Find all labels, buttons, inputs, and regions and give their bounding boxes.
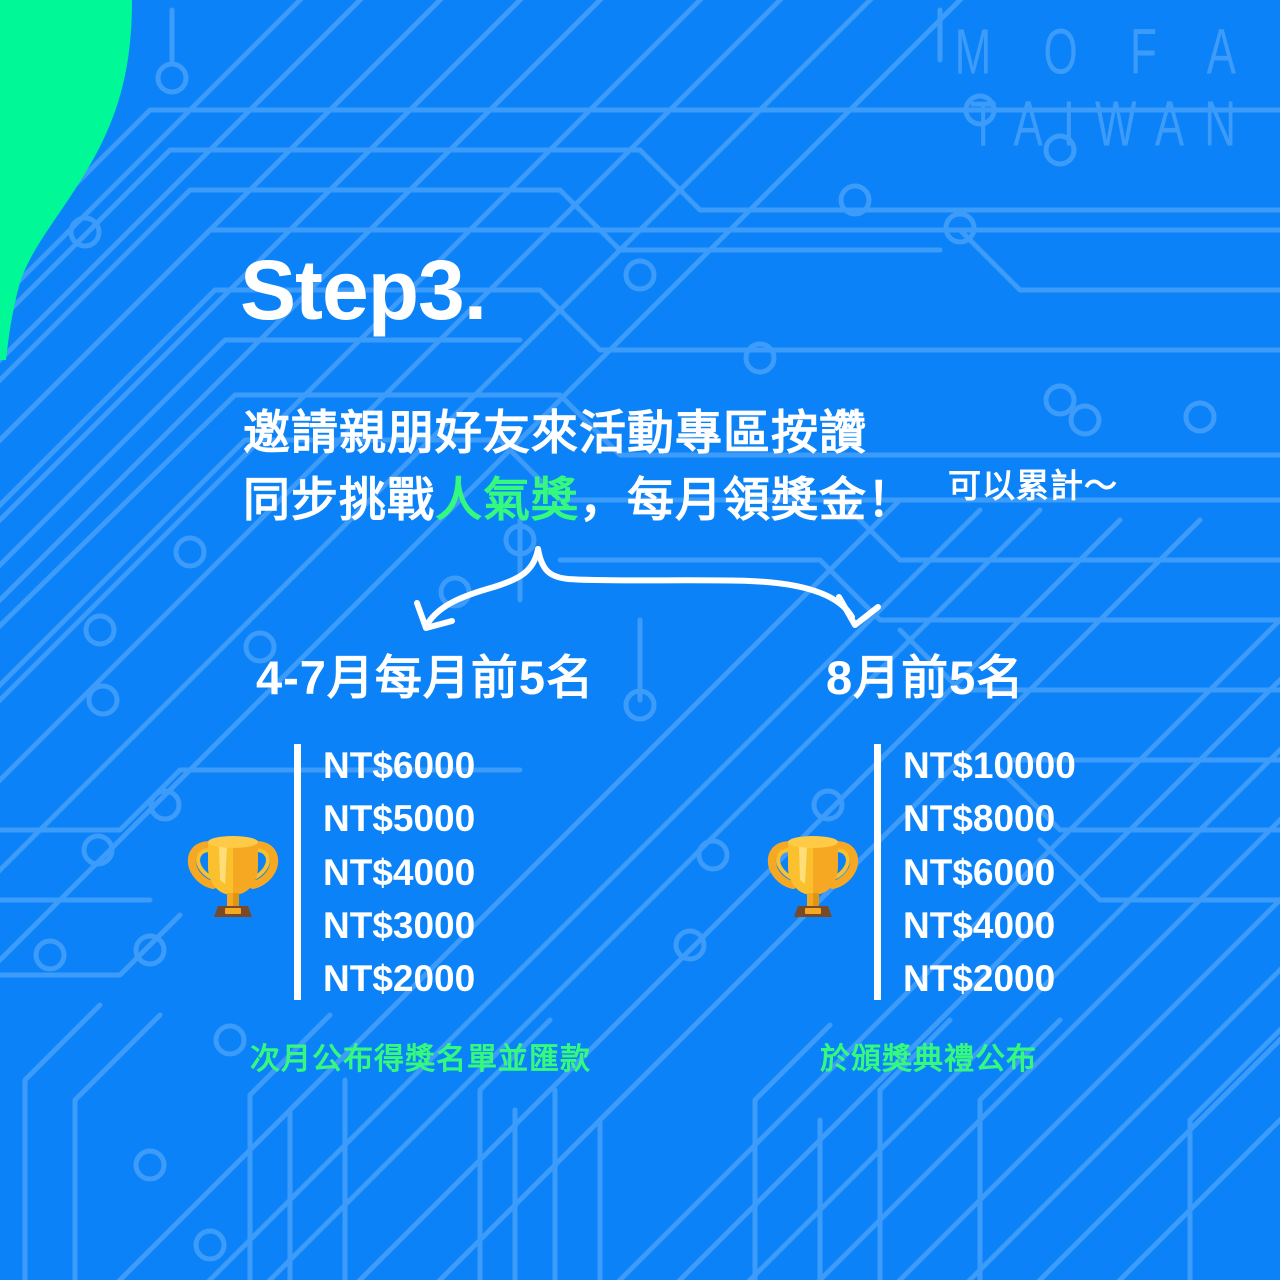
column-rule-right: [874, 744, 881, 1000]
watermark-line-1: M O F A: [955, 19, 1258, 88]
lede-line-2: 同步挑戰人氣獎，每月領獎金！: [243, 467, 915, 534]
prize-amount: NT$6000: [323, 747, 475, 784]
green-corner-blob: [0, 0, 230, 360]
watermark-line-2: TAIWAN: [955, 90, 1258, 159]
lede-copy: 邀請親朋好友來活動專區按讚 同步挑戰人氣獎，每月領獎金！: [243, 400, 915, 533]
column-heading-aug: 8月前5名: [760, 650, 1230, 706]
prize-amount: NT$6000: [903, 854, 1076, 891]
prize-row-apr-jul: NT$6000 NT$5000 NT$4000 NT$3000 NT$2000: [180, 744, 650, 1000]
prize-column-aug: 8月前5名: [760, 650, 1230, 1078]
prize-list-apr-jul: NT$6000 NT$5000 NT$4000 NT$3000 NT$2000: [301, 747, 475, 997]
column-rule-left: [294, 744, 301, 1000]
lede-line-1: 邀請親朋好友來活動專區按讚: [243, 400, 915, 467]
trophy-icon: [760, 819, 866, 925]
step-title: Step3.: [240, 248, 486, 332]
prize-amount: NT$4000: [903, 907, 1076, 944]
prize-amount: NT$2000: [323, 960, 475, 997]
lede-line-2-pre: 同步挑戰: [243, 473, 435, 526]
prize-amount: NT$2000: [903, 960, 1076, 997]
prize-row-aug: NT$10000 NT$8000 NT$6000 NT$4000 NT$2000: [760, 744, 1230, 1000]
split-arrow-connector: [390, 535, 920, 655]
prize-list-aug: NT$10000 NT$8000 NT$6000 NT$4000 NT$2000: [881, 747, 1076, 997]
promo-graphic: M O F A TAIWAN Step3. 邀請親朋好友來活動專區按讚 同步挑戰…: [0, 0, 1280, 1280]
prize-column-apr-jul: 4-7月每月前5名: [180, 650, 650, 1078]
lede-highlight-popularity-award: 人氣獎: [435, 473, 579, 526]
column-footnote-aug: 於頒獎典禮公布: [760, 1034, 1230, 1078]
column-heading-apr-jul: 4-7月每月前5名: [180, 650, 650, 706]
prize-amount: NT$10000: [903, 747, 1076, 784]
mofa-taiwan-watermark: M O F A TAIWAN: [955, 40, 1258, 159]
column-footnote-apr-jul: 次月公布得獎名單並匯款: [180, 1034, 650, 1078]
prize-amount: NT$4000: [323, 854, 475, 891]
trophy-icon: [180, 819, 286, 925]
lede-line-2-post: ，每月領獎金！: [579, 473, 915, 526]
prize-amount: NT$5000: [323, 800, 475, 837]
prize-amount: NT$8000: [903, 800, 1076, 837]
prize-amount: NT$3000: [323, 907, 475, 944]
cumulative-note: 可以累計～: [948, 459, 1118, 507]
